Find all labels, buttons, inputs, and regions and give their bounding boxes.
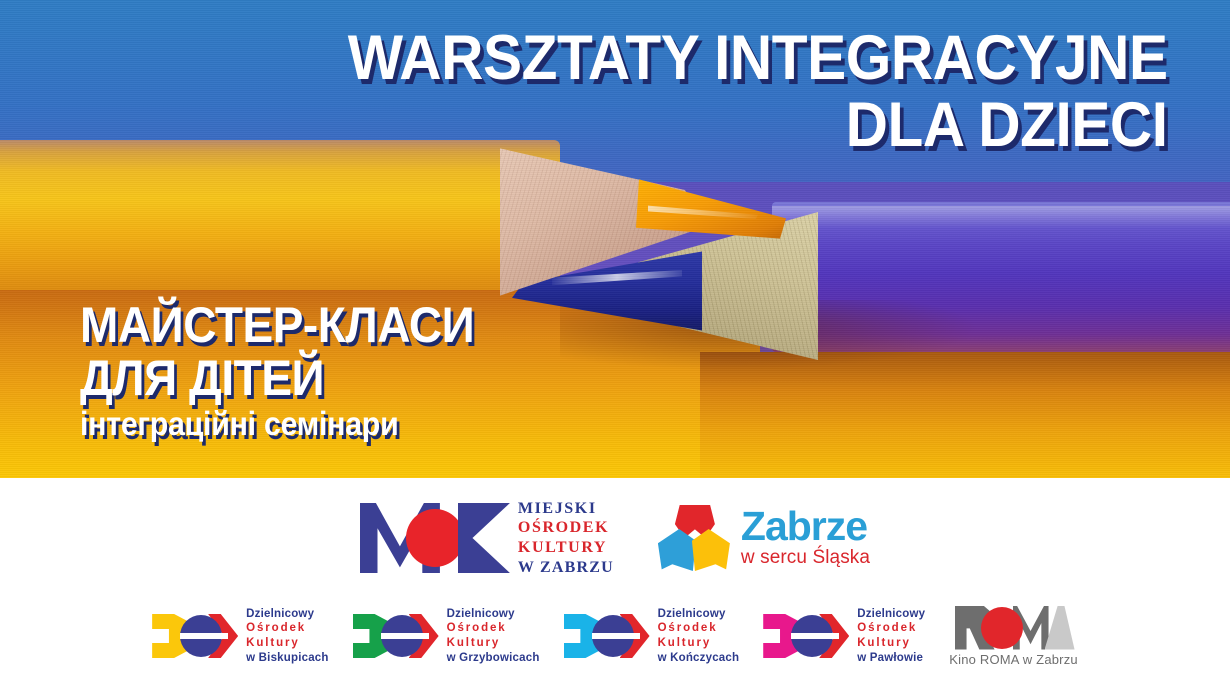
zabrze-name: Zabrze — [741, 507, 870, 546]
headline-polish-line2: DLA DZIECI — [348, 95, 1168, 155]
mok-line4: W ZABRZU — [518, 558, 614, 578]
dok-line1: Dzielnicowy — [447, 607, 540, 622]
poster-root: WARSZTATY INTEGRACYJNE DLA DZIECI МАЙСТЕ… — [0, 0, 1230, 692]
dok-wordmark: Dzielnicowy Ośrodek Kultury w Grzybowica… — [447, 607, 540, 666]
logo-dok-grzybowice[interactable]: Dzielnicowy Ośrodek Kultury w Grzybowica… — [353, 607, 540, 666]
dok-wordmark: Dzielnicowy Ośrodek Kultury w Pawłowie — [857, 607, 925, 666]
logo-dok-biskupice[interactable]: Dzielnicowy Ośrodek Kultury w Biskupicac… — [152, 607, 329, 666]
mok-monogram-icon — [360, 503, 508, 573]
hero-photo: WARSZTATY INTEGRACYJNE DLA DZIECI МАЙСТЕ… — [0, 0, 1230, 478]
dok-line3: Kultury — [246, 636, 329, 651]
dok-line2: Ośrodek — [857, 621, 925, 636]
roma-letter-a-icon — [1045, 606, 1075, 650]
headline-polish: WARSZTATY INTEGRACYJNE DLA DZIECI — [348, 28, 1168, 156]
primary-logo-row: MIEJSKI OŚRODEK KULTURY W ZABRZU Zabrze … — [0, 492, 1230, 584]
dok-letter-o-band-icon — [791, 633, 839, 639]
logo-dok-pawlow[interactable]: Dzielnicowy Ośrodek Kultury w Pawłowie — [763, 607, 925, 666]
mok-line2: OŚRODEK — [518, 518, 614, 538]
dok-line3: Kultury — [658, 636, 740, 651]
dok-letter-o-band-icon — [592, 633, 640, 639]
dok-letter-o-band-icon — [381, 633, 429, 639]
mok-letter-k-icon — [458, 503, 510, 573]
mok-line1: MIEJSKI — [518, 499, 614, 519]
zabrze-wordmark: Zabrze w sercu Śląska — [741, 507, 870, 569]
blue-pencil-highlight — [772, 206, 1230, 228]
dok-wordmark: Dzielnicowy Ośrodek Kultury w Biskupicac… — [246, 607, 329, 666]
headline-ukrainian-line2: ДЛЯ ДІТЕЙ — [80, 353, 474, 404]
dok-line1: Dzielnicowy — [246, 607, 329, 622]
dok-wordmark: Dzielnicowy Ośrodek Kultury w Kończycach — [658, 607, 740, 666]
zabrze-yellow-shield-icon — [692, 529, 730, 571]
dok-line3: Kultury — [857, 636, 925, 651]
dok-line4: w Biskupicach — [246, 651, 329, 666]
orange-surface-right — [700, 352, 1230, 478]
mok-letter-o-icon — [406, 509, 464, 567]
dok-monogram-icon — [152, 614, 238, 658]
footer-logo-bar: MIEJSKI OŚRODEK KULTURY W ZABRZU Zabrze … — [0, 478, 1230, 692]
headline-ukrainian-line1: МАЙСТЕР-КЛАСИ — [80, 300, 474, 351]
dok-line1: Dzielnicowy — [857, 607, 925, 622]
dok-line4: w Kończycach — [658, 651, 740, 666]
logo-mok[interactable]: MIEJSKI OŚRODEK KULTURY W ZABRZU — [360, 499, 614, 577]
dok-letter-o-band-icon — [180, 633, 228, 639]
mok-wordmark: MIEJSKI OŚRODEK KULTURY W ZABRZU — [518, 499, 614, 577]
logo-kino-roma[interactable]: Kino ROMA w Zabrzu — [949, 606, 1078, 667]
roma-letter-o-icon — [981, 607, 1023, 649]
roma-monogram-icon — [955, 606, 1073, 650]
headline-ukrainian: МАЙСТЕР-КЛАСИ ДЛЯ ДІТЕЙ інтеграційні сем… — [80, 300, 474, 442]
dok-line2: Ośrodek — [246, 621, 329, 636]
dok-monogram-icon — [763, 614, 849, 658]
dok-line2: Ośrodek — [447, 621, 540, 636]
zabrze-blue-shield-icon — [658, 529, 696, 571]
dok-line1: Dzielnicowy — [658, 607, 740, 622]
zabrze-emblem-icon — [658, 505, 730, 571]
logo-dok-konczyce[interactable]: Dzielnicowy Ośrodek Kultury w Kończycach — [564, 607, 740, 666]
roma-caption: Kino ROMA w Zabrzu — [949, 652, 1078, 667]
dok-line4: w Grzybowicach — [447, 651, 540, 666]
headline-polish-line1: WARSZTATY INTEGRACYJNE — [348, 23, 1168, 93]
dok-monogram-icon — [353, 614, 439, 658]
zabrze-tagline: w sercu Śląska — [741, 548, 870, 569]
dok-line4: w Pawłowie — [857, 651, 925, 666]
dok-line3: Kultury — [447, 636, 540, 651]
dok-line2: Ośrodek — [658, 621, 740, 636]
mok-line3: KULTURY — [518, 538, 614, 558]
secondary-logo-row: Dzielnicowy Ośrodek Kultury w Biskupicac… — [0, 594, 1230, 678]
headline-ukrainian-line3: інтеграційні семінари — [80, 407, 474, 442]
logo-zabrze[interactable]: Zabrze w sercu Śląska — [658, 505, 870, 571]
dok-monogram-icon — [564, 614, 650, 658]
